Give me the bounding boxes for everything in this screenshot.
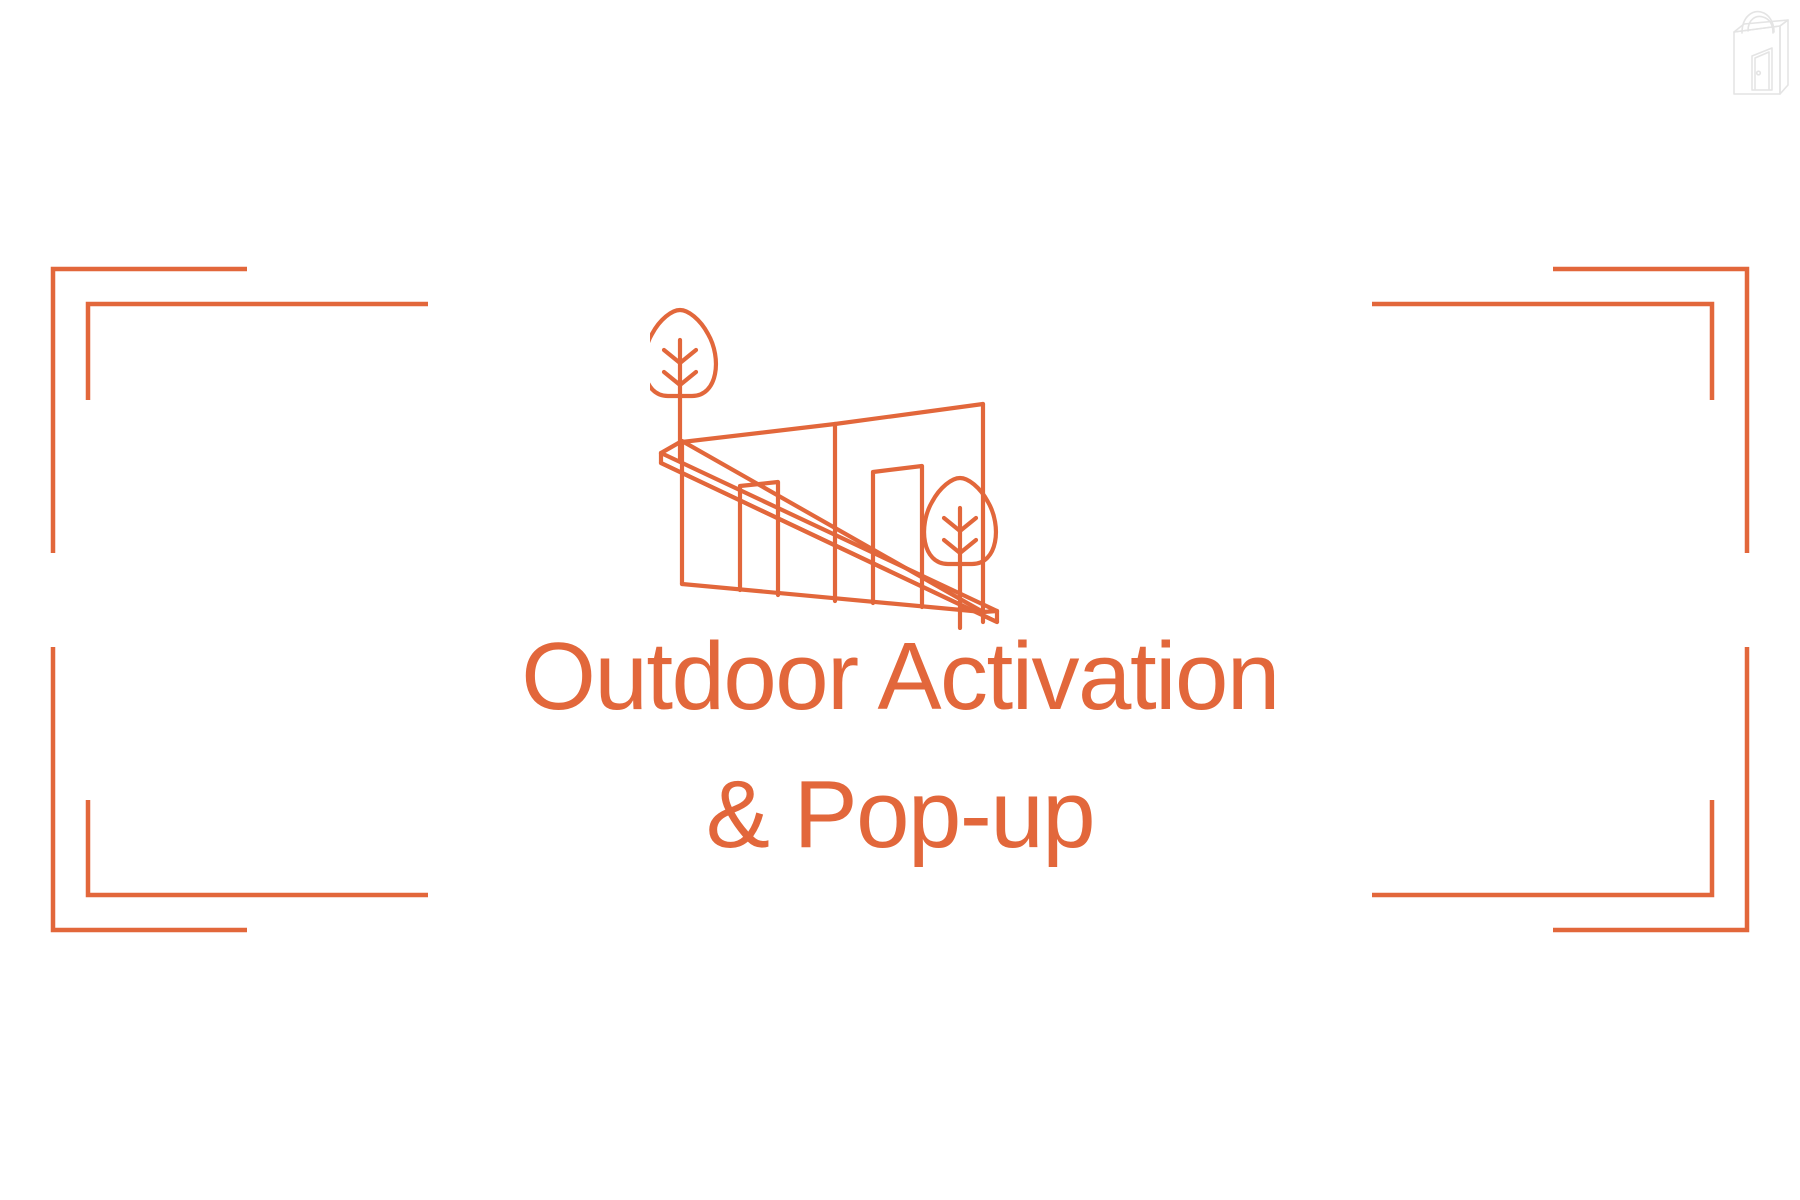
bracket-top-left-outer	[53, 269, 247, 553]
title-line-1: Outdoor Activation	[0, 608, 1800, 746]
deck-platform	[661, 441, 997, 622]
doorway-right	[873, 466, 922, 607]
watermark-logo	[1722, 6, 1794, 102]
bracket-top-right-outer	[1553, 269, 1747, 553]
bracket-top-right-inner	[1372, 304, 1712, 400]
outdoor-storefront-illustration	[650, 300, 1150, 630]
title-line-2: & Pop-up	[0, 746, 1800, 884]
facade-wall-panel-left	[682, 424, 835, 584]
slide-canvas: Outdoor Activation & Pop-up	[0, 0, 1800, 1200]
page-title: Outdoor Activation & Pop-up	[0, 608, 1800, 884]
bracket-top-left-inner	[88, 304, 428, 400]
